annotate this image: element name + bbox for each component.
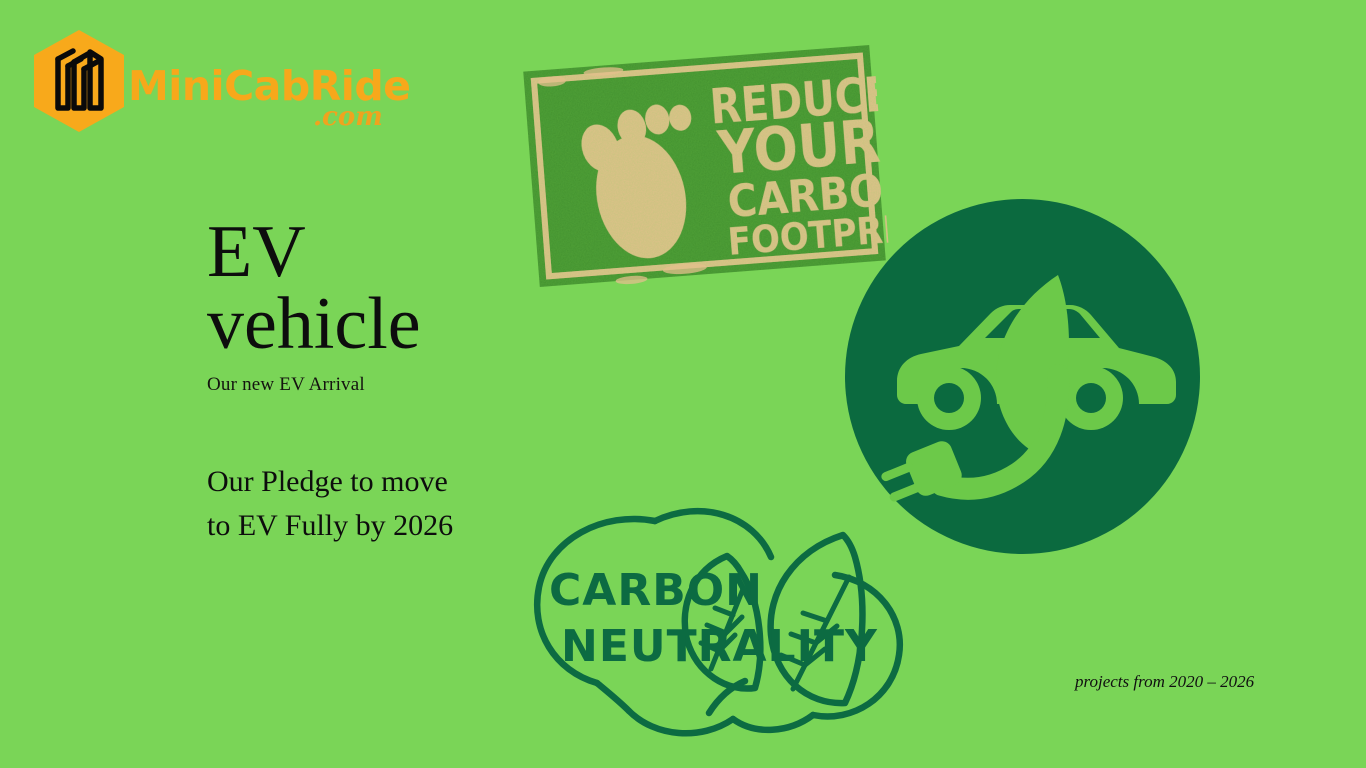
- carbon-neutrality-badge: CARBON NEUTRALITY: [505, 465, 925, 740]
- brand-wordmark: MiniCabRide: [128, 66, 410, 107]
- projects-footnote: projects from 2020 – 2026: [1075, 672, 1254, 692]
- carbon-neutrality-line-1: CARBON: [549, 565, 763, 616]
- slide-canvas: MiniCabRide .com EV vehicle Our new EV A…: [0, 0, 1366, 768]
- hexagon-monogram-icon: [24, 26, 134, 136]
- carbon-neutrality-line-2: NEUTRALITY: [561, 621, 878, 672]
- headline-subtitle: Our new EV Arrival: [207, 374, 627, 396]
- headline-line-2: vehicle: [207, 290, 627, 358]
- brand-tld: .com: [313, 104, 383, 130]
- reduce-carbon-footprint-stamp: REDUCE YOUR CARBON FOOTPRINT: [519, 39, 890, 294]
- brand-logo[interactable]: MiniCabRide .com: [24, 26, 384, 136]
